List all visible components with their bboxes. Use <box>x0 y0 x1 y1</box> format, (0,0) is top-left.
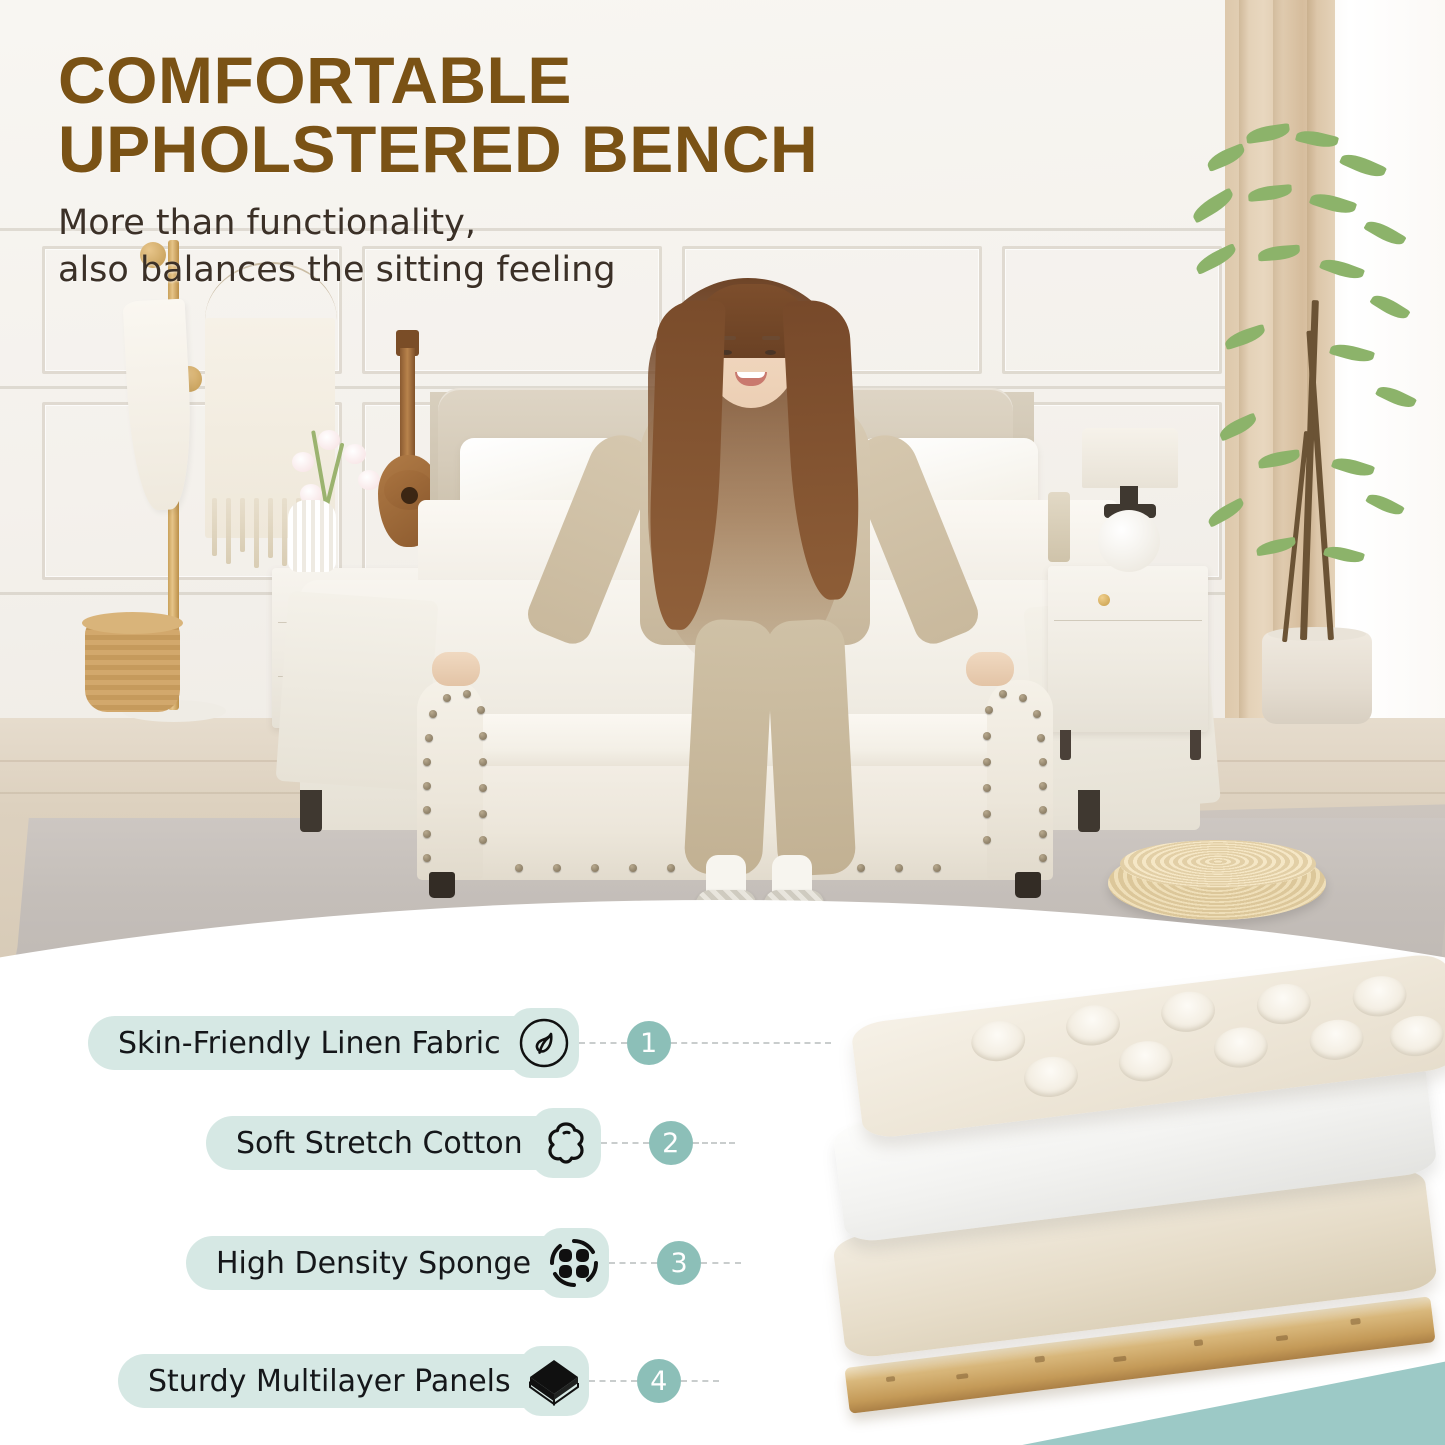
feature-label-pill-1[interactable]: Skin-Friendly Linen Fabric <box>88 1016 563 1070</box>
lamp-shade <box>1082 428 1178 488</box>
nailhead-stud <box>1039 758 1047 766</box>
bench-arm-left <box>417 680 483 880</box>
feature-label-text-1: Skin-Friendly Linen Fabric <box>118 1026 501 1061</box>
nailhead-stud <box>857 864 865 872</box>
reed-diffuser <box>1048 492 1070 562</box>
orchid-flower <box>318 430 340 450</box>
feature-row-3[interactable]: High Density Sponge 3 <box>186 1232 741 1294</box>
macrame-tassel <box>282 498 287 566</box>
nailhead-stud <box>423 854 431 862</box>
feature-label-pill-4[interactable]: Sturdy Multilayer Panels <box>118 1354 573 1408</box>
nailhead-stud <box>479 810 487 818</box>
macrame-tassel <box>268 498 273 558</box>
macrame-tassel <box>212 498 217 556</box>
nailhead-stud <box>985 706 993 714</box>
nailhead-stud <box>1039 806 1047 814</box>
nailhead-stud <box>983 758 991 766</box>
macrame-tassel <box>226 498 231 564</box>
nightstand-right-leg <box>1060 730 1071 760</box>
nailhead-stud <box>515 864 523 872</box>
nailhead-stud <box>1039 782 1047 790</box>
feature-row-2[interactable]: Soft Stretch Cotton 2 <box>206 1112 735 1174</box>
nailhead-stud <box>479 784 487 792</box>
subtitle-line-1: More than functionality, <box>58 201 818 246</box>
nailhead-stud <box>479 732 487 740</box>
infographic-root: COMFORTABLE UPHOLSTERED BENCH More than … <box>0 0 1445 1445</box>
layer-stack-diagram <box>815 980 1445 1445</box>
woven-pouf-top <box>1120 840 1316 888</box>
feature-label-text-3: High Density Sponge <box>216 1246 531 1281</box>
ukulele-neck <box>400 348 415 463</box>
connector-dash-right-4 <box>681 1380 719 1382</box>
nightstand-right-knob <box>1098 594 1110 606</box>
panel-block-icon <box>526 1354 582 1408</box>
nailhead-stud <box>1019 694 1027 702</box>
orchid-flower <box>358 470 380 490</box>
leaf-icon <box>518 1017 570 1069</box>
wall-panel-4 <box>1002 246 1222 374</box>
connector-dash-right-2 <box>693 1142 735 1144</box>
connector-dash-left-3 <box>609 1262 657 1264</box>
bench-arm-right <box>987 680 1053 880</box>
sponge-cells-icon <box>547 1236 601 1290</box>
orchid-flower <box>344 444 366 464</box>
nailhead-stud <box>425 734 433 742</box>
nailhead-stud <box>443 694 451 702</box>
nailhead-stud <box>983 810 991 818</box>
nightstand-right <box>1048 566 1208 732</box>
nailhead-stud <box>477 706 485 714</box>
nightstand-right-leg-2 <box>1190 730 1201 760</box>
feature-label-pill-2[interactable]: Soft Stretch Cotton <box>206 1116 585 1170</box>
woman-brow-right <box>762 336 780 340</box>
woman-hand-left <box>432 652 480 686</box>
ribbed-vase <box>288 500 336 572</box>
nailhead-stud <box>667 864 675 872</box>
headline-block: COMFORTABLE UPHOLSTERED BENCH More than … <box>58 46 818 293</box>
feature-label-pill-3[interactable]: High Density Sponge <box>186 1236 593 1290</box>
subtitle-line-2: also balances the sitting feeling <box>58 248 818 293</box>
nailhead-stud <box>1033 710 1041 718</box>
bench-leg-left <box>429 872 455 898</box>
connector-dash-left-1 <box>579 1042 627 1044</box>
nailhead-stud <box>423 830 431 838</box>
nailhead-stud <box>983 836 991 844</box>
nailhead-stud <box>629 864 637 872</box>
plant-pot <box>1262 632 1372 724</box>
sponge-cells-icon-badge[interactable] <box>539 1228 609 1298</box>
cotton-boll-icon <box>539 1116 593 1170</box>
nailhead-stud <box>479 758 487 766</box>
connector-dash-right-3 <box>701 1262 741 1264</box>
feature-label-text-4: Sturdy Multilayer Panels <box>148 1364 511 1399</box>
nailhead-stud <box>463 690 471 698</box>
nailhead-stud <box>423 806 431 814</box>
feature-number-2[interactable]: 2 <box>649 1121 693 1165</box>
nailhead-stud <box>983 784 991 792</box>
woman-teeth <box>737 372 765 378</box>
round-decor-vase <box>1098 510 1160 572</box>
cotton-boll-icon-badge[interactable] <box>531 1108 601 1178</box>
woman-leg-left <box>683 618 774 877</box>
nailhead-stud <box>553 864 561 872</box>
bench-leg-right <box>1015 872 1041 898</box>
feature-number-1[interactable]: 1 <box>627 1021 671 1065</box>
duvet-drape-left <box>276 591 439 791</box>
feature-row-4[interactable]: Sturdy Multilayer Panels 4 <box>118 1350 719 1412</box>
woman-leg-right <box>765 618 856 877</box>
nailhead-stud <box>1039 830 1047 838</box>
wicker-basket-rim <box>82 612 183 634</box>
connector-dash-left-2 <box>601 1142 649 1144</box>
nailhead-stud <box>983 732 991 740</box>
bed-leg-left <box>300 790 322 832</box>
nailhead-stud <box>999 690 1007 698</box>
feature-number-4[interactable]: 4 <box>637 1359 681 1403</box>
nailhead-stud <box>895 864 903 872</box>
bedroom-scene-photo: COMFORTABLE UPHOLSTERED BENCH More than … <box>0 0 1445 1010</box>
connector-dash-right-1 <box>671 1042 831 1044</box>
orchid-flower <box>292 452 314 472</box>
nailhead-stud <box>423 782 431 790</box>
nailhead-stud <box>479 836 487 844</box>
nailhead-stud <box>423 758 431 766</box>
panel-block-icon-badge[interactable] <box>519 1346 589 1416</box>
macrame-tassel <box>254 498 259 568</box>
woman-hand-right <box>966 652 1014 686</box>
headline-line-1: COMFORTABLE <box>58 46 818 115</box>
feature-row-1[interactable]: Skin-Friendly Linen Fabric 1 <box>88 1012 831 1074</box>
headline-line-2: UPHOLSTERED BENCH <box>58 115 818 184</box>
nailhead-stud <box>933 864 941 872</box>
nailhead-stud <box>429 710 437 718</box>
feature-number-3[interactable]: 3 <box>657 1241 701 1285</box>
nailhead-stud <box>591 864 599 872</box>
woman-eye-right <box>765 350 776 355</box>
curtain-fold-a <box>1239 0 1249 790</box>
lamp-neck <box>1120 486 1138 506</box>
leaf-icon-badge[interactable] <box>509 1008 579 1078</box>
connector-dash-left-4 <box>589 1380 637 1382</box>
nailhead-stud <box>1039 854 1047 862</box>
feature-label-text-2: Soft Stretch Cotton <box>236 1126 523 1161</box>
bed-leg-right <box>1078 790 1100 832</box>
nailhead-stud <box>1037 734 1045 742</box>
ukulele-soundhole <box>401 487 418 504</box>
nightstand-right-drawer-line <box>1054 620 1202 621</box>
macrame-tassel <box>240 498 245 552</box>
